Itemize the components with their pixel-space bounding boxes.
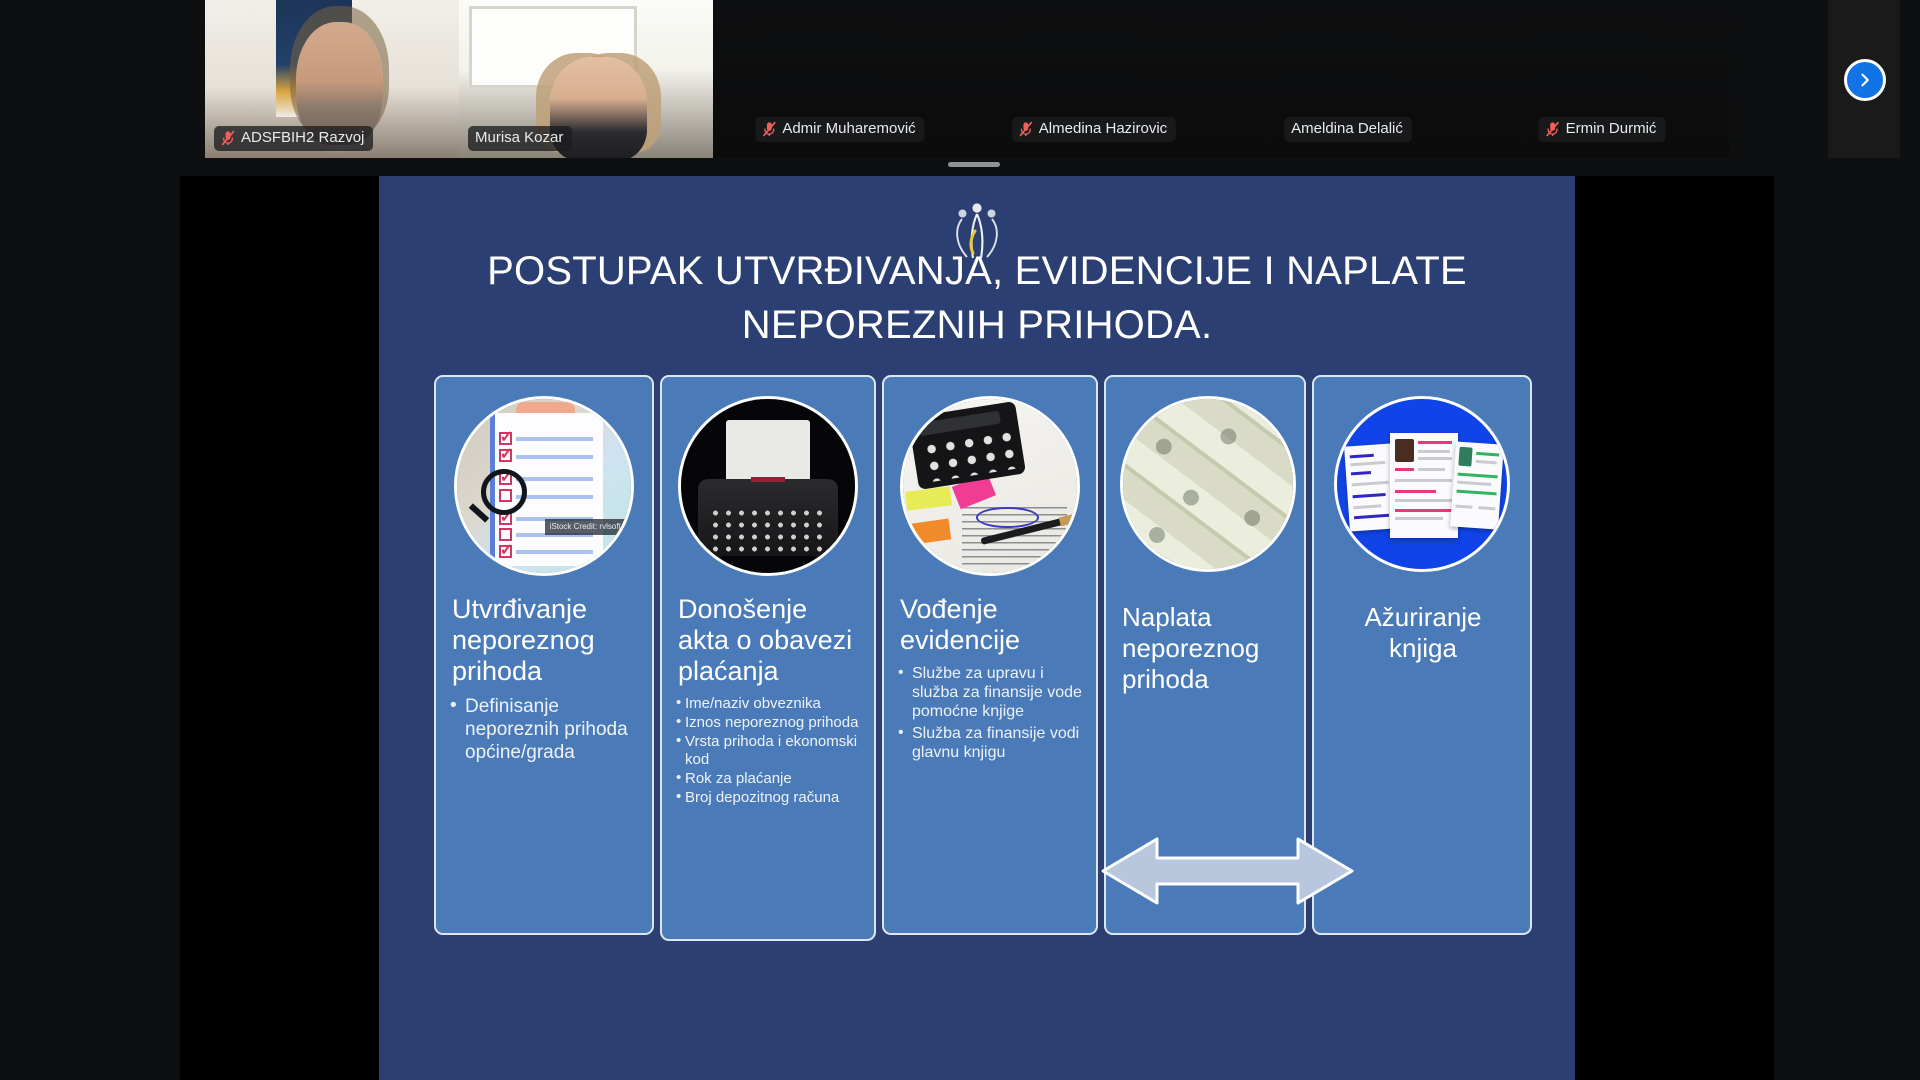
calculator-documents-image (900, 396, 1080, 576)
participant-name: Murisa Kozar (475, 129, 563, 147)
tile-name-badge: Admir Muharemović (755, 117, 924, 142)
card-bullets: Ime/naziv obveznika Iznos neporeznog pri… (676, 695, 860, 807)
participant-name: Ameldina Delalić (1291, 120, 1403, 138)
checklist-magnifier-image: iStock Credit: rvlsoft (454, 396, 634, 576)
bullet-item: Službe za upravu i služba za finansije v… (898, 664, 1082, 721)
card-bullets: Definisanje neporeznih prihoda općine/gr… (450, 695, 638, 764)
participant-tile-almedina-hazirovic[interactable]: Almedina Hazir... Almedina Hazirovic (967, 0, 1221, 158)
filmstrip-left-padding (0, 0, 205, 158)
process-card-naplata: Naplata neporeznog prihoda (1104, 375, 1306, 935)
process-card-azuriranje-knjiga: Ažuriranje knjiga (1312, 375, 1532, 935)
video-tile-murisa-kozar[interactable]: Murisa Kozar (459, 0, 713, 158)
participant-name: ADSFBIH2 Razvoj (241, 129, 364, 147)
card-heading: Utvrđivanje neporeznog prihoda (452, 594, 638, 687)
process-card-vodjenje-evidencije: Vođenje evidencije Službe za upravu i sl… (882, 375, 1098, 935)
card-heading: Vođenje evidencije (900, 594, 1082, 656)
participant-name: Ermin Durmić (1566, 120, 1657, 138)
tile-name-badge: Murisa Kozar (468, 126, 572, 151)
card-heading: Naplata neporeznog prihoda (1122, 602, 1290, 695)
records-documents-image (1334, 396, 1510, 572)
bullet-item: Vrsta prihoda i ekonomski kod (676, 733, 860, 769)
participant-name: Almedina Hazirovic (1039, 120, 1167, 138)
tile-name-badge: ADSFBIH2 Razvoj (214, 126, 373, 151)
bullet-item: Rok za plaćanje (676, 770, 860, 788)
process-card-utvrdjivanje: iStock Credit: rvlsoft Utvrđivanje nepor… (434, 375, 654, 935)
chevron-right-icon (1856, 71, 1874, 89)
mic-muted-icon (1019, 121, 1033, 137)
video-tile-adsfbih2-razvoj[interactable]: ADSFBIH2 Razvoj (205, 0, 459, 158)
participant-tile-ermin-durmic[interactable]: Ermin Durmić Ermin Durmić (1475, 0, 1729, 158)
card-heading: Ažuriranje knjiga (1330, 602, 1516, 664)
next-participants-button[interactable] (1844, 59, 1886, 101)
zoom-meeting-window: ADSFBIH2 Razvoj Murisa Kozar Admir Muhar… (0, 0, 1920, 1080)
bullet-item: Iznos neporeznog prihoda (676, 714, 860, 732)
filmstrip-drag-handle[interactable] (948, 162, 1000, 167)
presentation-slide: POSTUPAK UTVRĐIVANJA, EVIDENCIJE I NAPLA… (379, 176, 1575, 1080)
mic-muted-icon (1546, 121, 1560, 137)
process-card-donosenje-akta: Donošenje akta o obavezi plaćanja Ime/na… (660, 375, 876, 941)
tile-name-badge: Almedina Hazirovic (1012, 117, 1176, 142)
bullet-item: Ime/naziv obveznika (676, 695, 860, 713)
slide-title: POSTUPAK UTVRĐIVANJA, EVIDENCIJE I NAPLA… (379, 244, 1575, 352)
bullet-item: Definisanje neporeznih prihoda općine/gr… (450, 695, 638, 764)
participant-filmstrip: ADSFBIH2 Razvoj Murisa Kozar Admir Muhar… (0, 0, 1920, 158)
participant-name: Admir Muharemović (782, 120, 915, 138)
mic-muted-icon (221, 130, 235, 146)
bullet-item: Broj depozitnog računa (676, 789, 860, 807)
participant-tile-admir-muharemovic[interactable]: Admir Muhare... Admir Muharemović (713, 0, 967, 158)
vintage-typewriter-image (678, 396, 858, 576)
shared-screen-area: POSTUPAK UTVRĐIVANJA, EVIDENCIJE I NAPLA… (180, 176, 1774, 1080)
tile-name-badge: Ameldina Delalić (1284, 117, 1412, 142)
mic-muted-icon (762, 121, 776, 137)
image-watermark: iStock Credit: rvlsoft (545, 519, 626, 535)
card-bullets: Službe za upravu i služba za finansije v… (898, 664, 1082, 762)
participant-tile-ameldina-delalic[interactable]: Ameldina Delalić Ameldina Delalić (1221, 0, 1475, 158)
tile-name-badge: Ermin Durmić (1539, 117, 1666, 142)
process-cards: iStock Credit: rvlsoft Utvrđivanje nepor… (434, 375, 1524, 941)
bullet-item: Služba za finansije vodi glavnu knjigu (898, 724, 1082, 762)
card-heading: Donošenje akta o obavezi plaćanja (678, 594, 860, 687)
dollar-banknotes-image (1120, 396, 1296, 572)
